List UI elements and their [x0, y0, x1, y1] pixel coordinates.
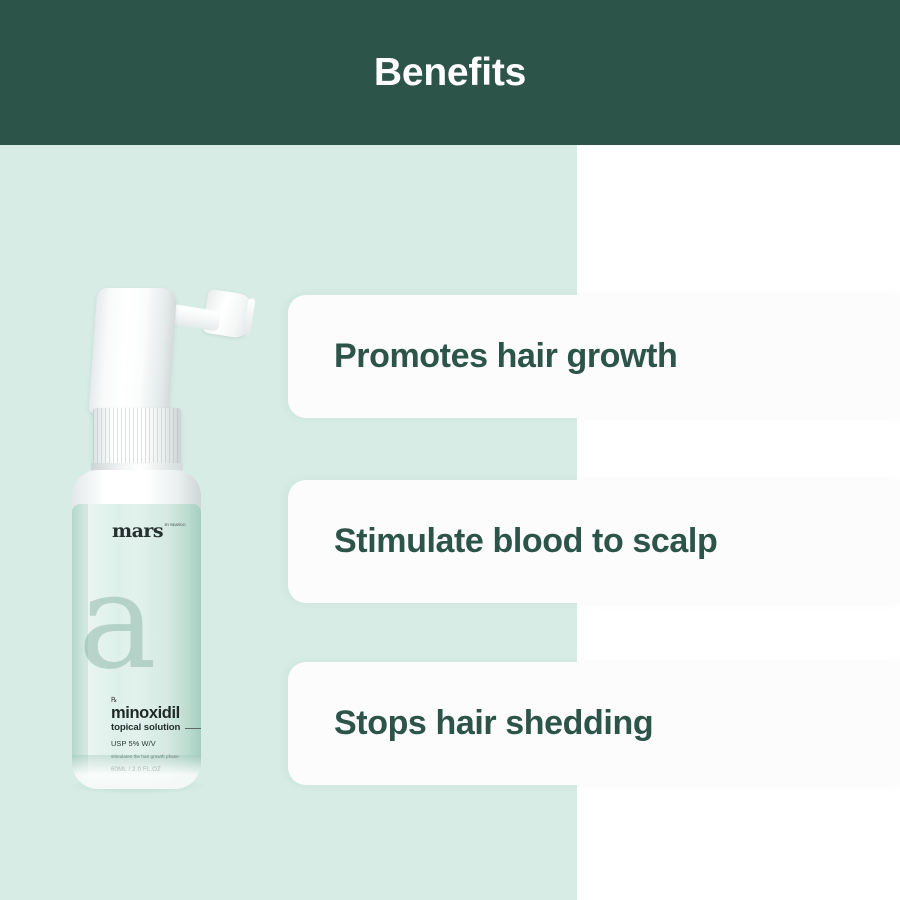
benefit-cards-list: Promotes hair growth Stimulate blood to …: [0, 0, 900, 900]
benefit-card: Stops hair shedding: [288, 662, 900, 785]
benefit-label: Promotes hair growth: [288, 338, 677, 375]
benefit-label: Stimulate blood to scalp: [288, 523, 717, 560]
benefit-card: Promotes hair growth: [288, 295, 900, 418]
benefit-card: Stimulate blood to scalp: [288, 480, 900, 603]
benefits-infographic: Benefits a mars BY BEARDO ℞ minoxidil to…: [0, 0, 900, 900]
benefit-label: Stops hair shedding: [288, 705, 653, 742]
